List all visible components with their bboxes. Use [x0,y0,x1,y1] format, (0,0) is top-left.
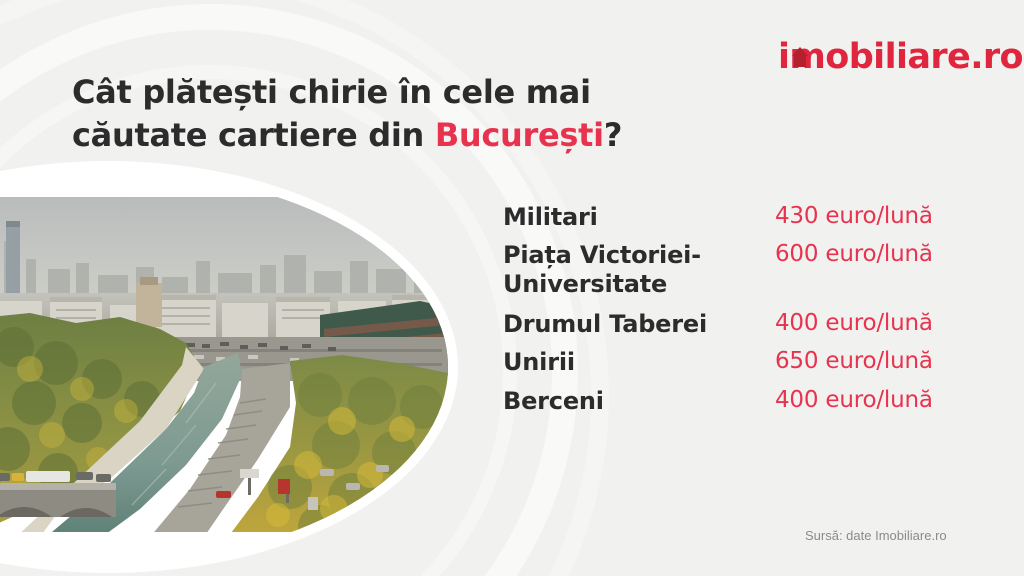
neighborhood-name: Berceni [503,387,775,415]
title-line-2-prefix: căutate cartiere din [72,116,435,154]
list-item: Unirii 650 euro/lună [503,348,973,376]
rent-price: 430 euro/lună [775,203,933,230]
list-item: Drumul Taberei 400 euro/lună [503,310,973,338]
title-highlight-city: București [435,116,604,154]
title-line-1: Cât plătești chirie în cele mai [72,73,591,111]
hero-photo-container [0,197,470,537]
rent-price: 650 euro/lună [775,348,933,375]
neighborhood-name: Militari [503,203,775,231]
logo-text-i: i [778,37,789,77]
photo-circular-mask [0,171,448,563]
infographic-canvas: imobiliare.ro Cât plătești chirie în cel… [0,0,1024,576]
rent-price: 400 euro/lună [775,387,933,414]
rent-price-list: Militari 430 euro/lună Piața Victoriei-U… [503,203,973,423]
list-item: Militari 430 euro/lună [503,203,973,231]
logo-text-rest: obiliare.ro [825,37,1023,77]
city-aerial-photo [0,197,448,532]
rent-price: 600 euro/lună [775,241,933,268]
neighborhood-name: Piața Victoriei-Universitate [503,241,775,298]
neighborhood-name: Drumul Taberei [503,310,775,338]
title-question-mark: ? [604,116,622,154]
logo-house-icon: m [789,40,825,75]
house-body-shape [794,55,806,67]
list-item: Piața Victoriei-Universitate 600 euro/lu… [503,241,973,298]
page-title: Cât plătești chirie în cele mai căutate … [72,71,712,155]
neighborhood-name: Unirii [503,348,775,376]
rent-price: 400 euro/lună [775,310,933,337]
list-item: Berceni 400 euro/lună [503,387,973,415]
source-note: Sursă: date Imobiliare.ro [805,528,947,543]
brand-logo[interactable]: imobiliare.ro [778,40,1023,75]
